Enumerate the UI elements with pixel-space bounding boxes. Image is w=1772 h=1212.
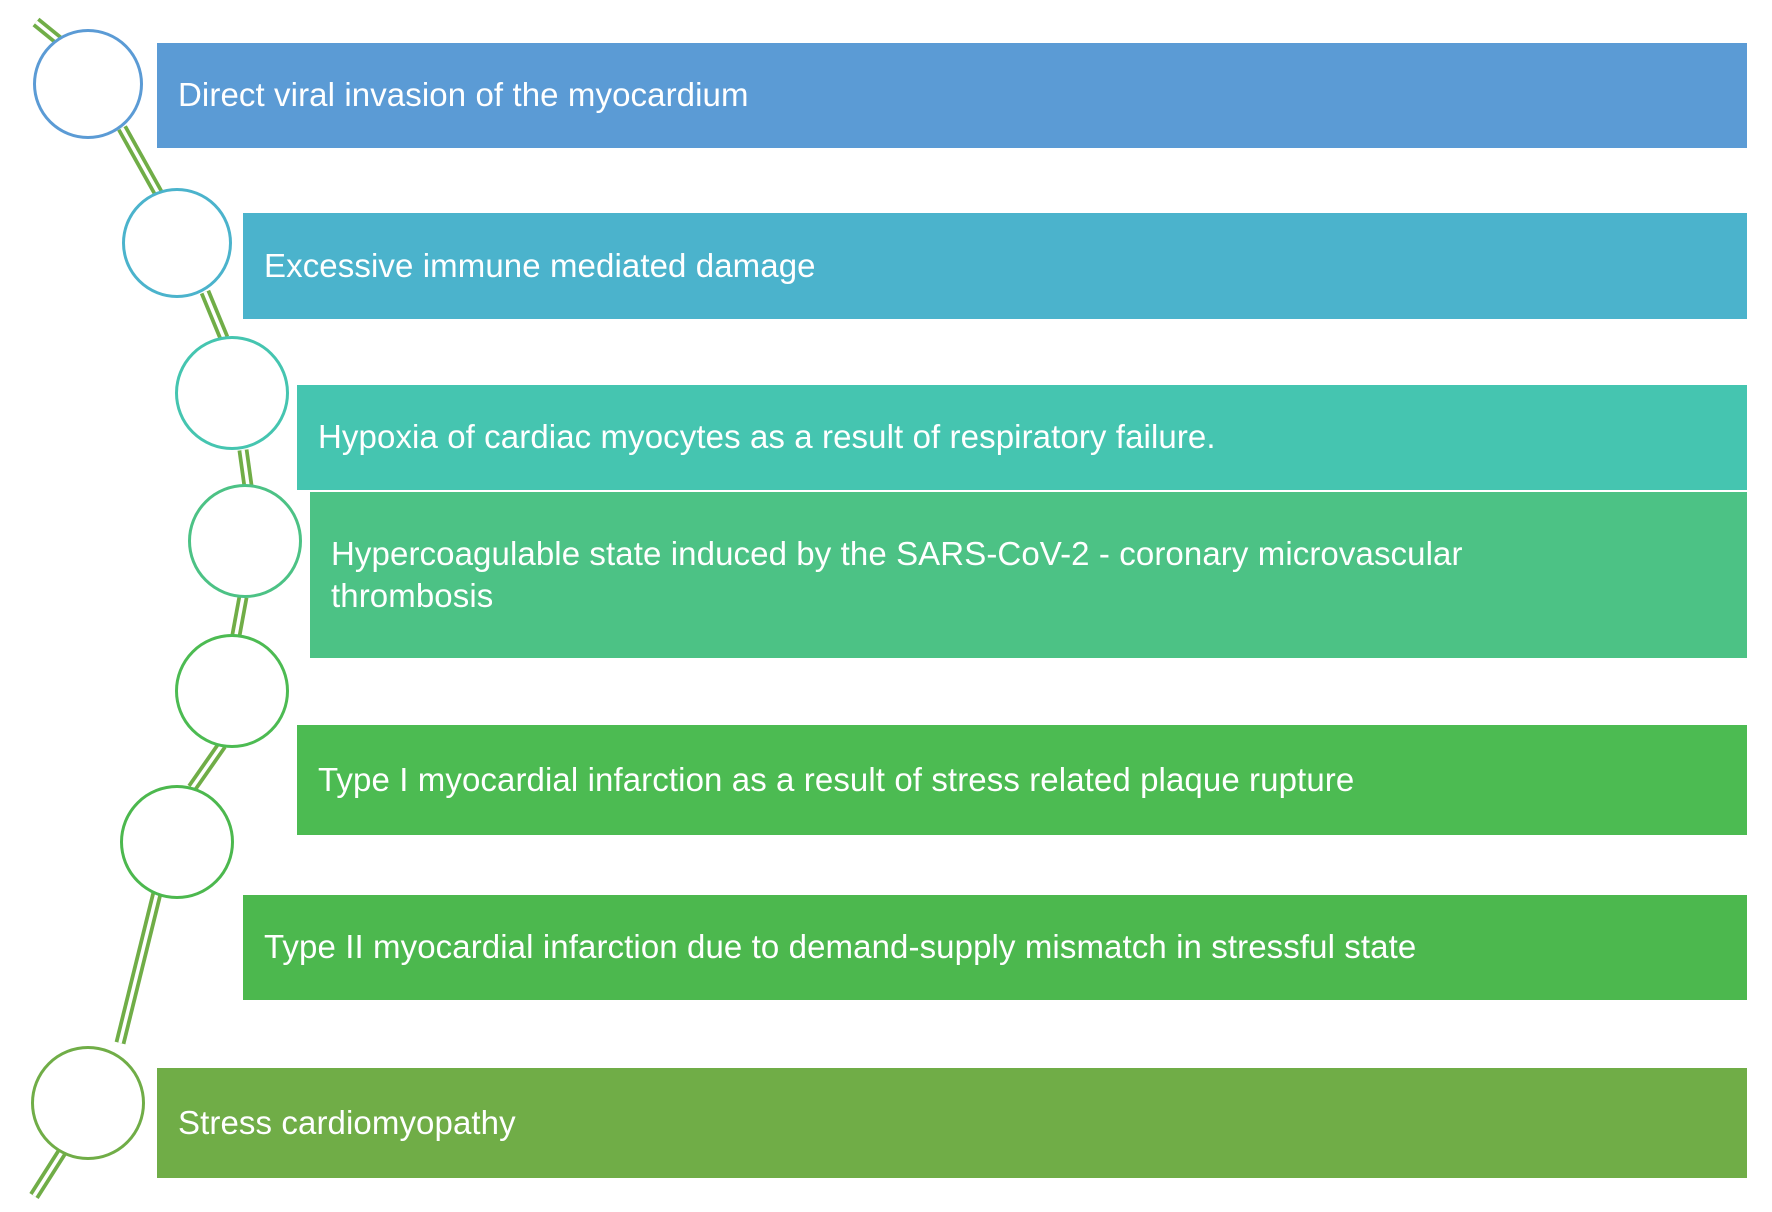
connector-1-to-2: [122, 128, 160, 196]
connector-3-to-4: [243, 450, 248, 486]
step-node-circle-2[interactable]: [122, 188, 232, 298]
process-step-label-6: Type II myocardial infarction due to dem…: [264, 926, 1416, 968]
process-step-bar-5[interactable]: Type I myocardial infarction as a result…: [297, 725, 1747, 835]
step-node-circle-7[interactable]: [31, 1046, 145, 1160]
process-diagram: Direct viral invasion of the myocardiumE…: [0, 0, 1772, 1212]
process-step-bar-2[interactable]: Excessive immune mediated damage: [243, 213, 1747, 319]
connector-6-to-7: [120, 893, 157, 1043]
process-step-label-4: Hypercoagulable state induced by the SAR…: [331, 533, 1463, 617]
process-step-label-7: Stress cardiomyopathy: [178, 1102, 516, 1144]
connector-tail-out: [34, 1152, 62, 1196]
step-node-circle-5[interactable]: [175, 634, 289, 748]
step-node-circle-6[interactable]: [120, 785, 234, 899]
process-step-bar-7[interactable]: Stress cardiomyopathy: [157, 1068, 1747, 1178]
step-node-circle-1[interactable]: [33, 29, 143, 139]
process-step-label-1: Direct viral invasion of the myocardium: [178, 74, 749, 116]
process-step-bar-3[interactable]: Hypoxia of cardiac myocytes as a result …: [297, 385, 1747, 490]
connector-5-to-6: [192, 745, 222, 788]
process-step-label-5: Type I myocardial infarction as a result…: [318, 759, 1354, 801]
connector-2-to-3: [205, 292, 224, 338]
process-step-bar-6[interactable]: Type II myocardial infarction due to dem…: [243, 895, 1747, 1000]
step-node-circle-4[interactable]: [188, 484, 302, 598]
step-node-circle-3[interactable]: [175, 336, 289, 450]
connector-4-to-5: [236, 597, 243, 635]
process-step-label-3: Hypoxia of cardiac myocytes as a result …: [318, 416, 1216, 458]
process-step-label-2: Excessive immune mediated damage: [264, 245, 816, 287]
process-step-bar-1[interactable]: Direct viral invasion of the myocardium: [157, 43, 1747, 148]
process-step-bar-4[interactable]: Hypercoagulable state induced by the SAR…: [310, 492, 1747, 658]
